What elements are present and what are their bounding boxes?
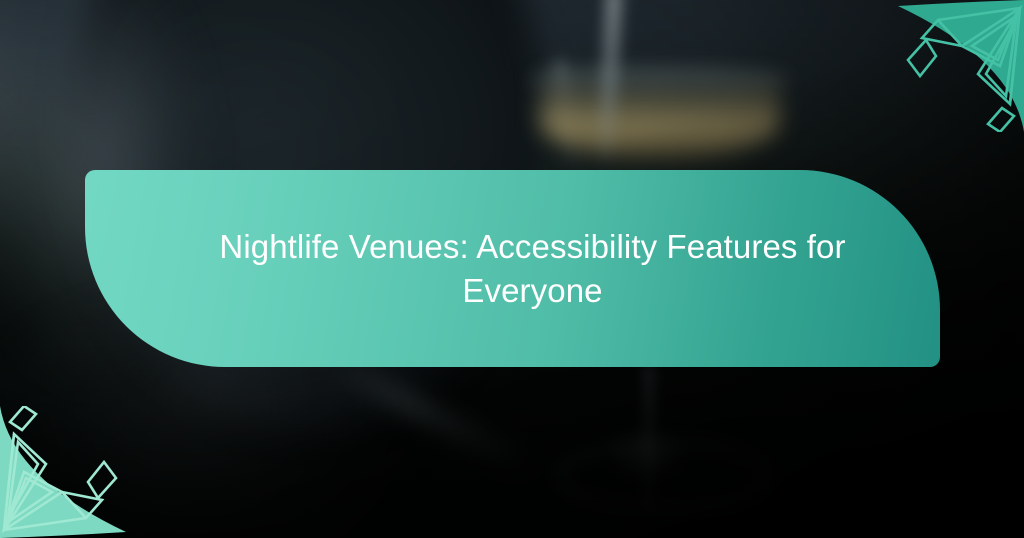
title-banner-shape: Nightlife Venues: Accessibility Features… [85, 170, 940, 367]
banner-stage: Nightlife Venues: Accessibility Features… [0, 0, 1024, 538]
page-title: Nightlife Venues: Accessibility Features… [215, 225, 850, 313]
